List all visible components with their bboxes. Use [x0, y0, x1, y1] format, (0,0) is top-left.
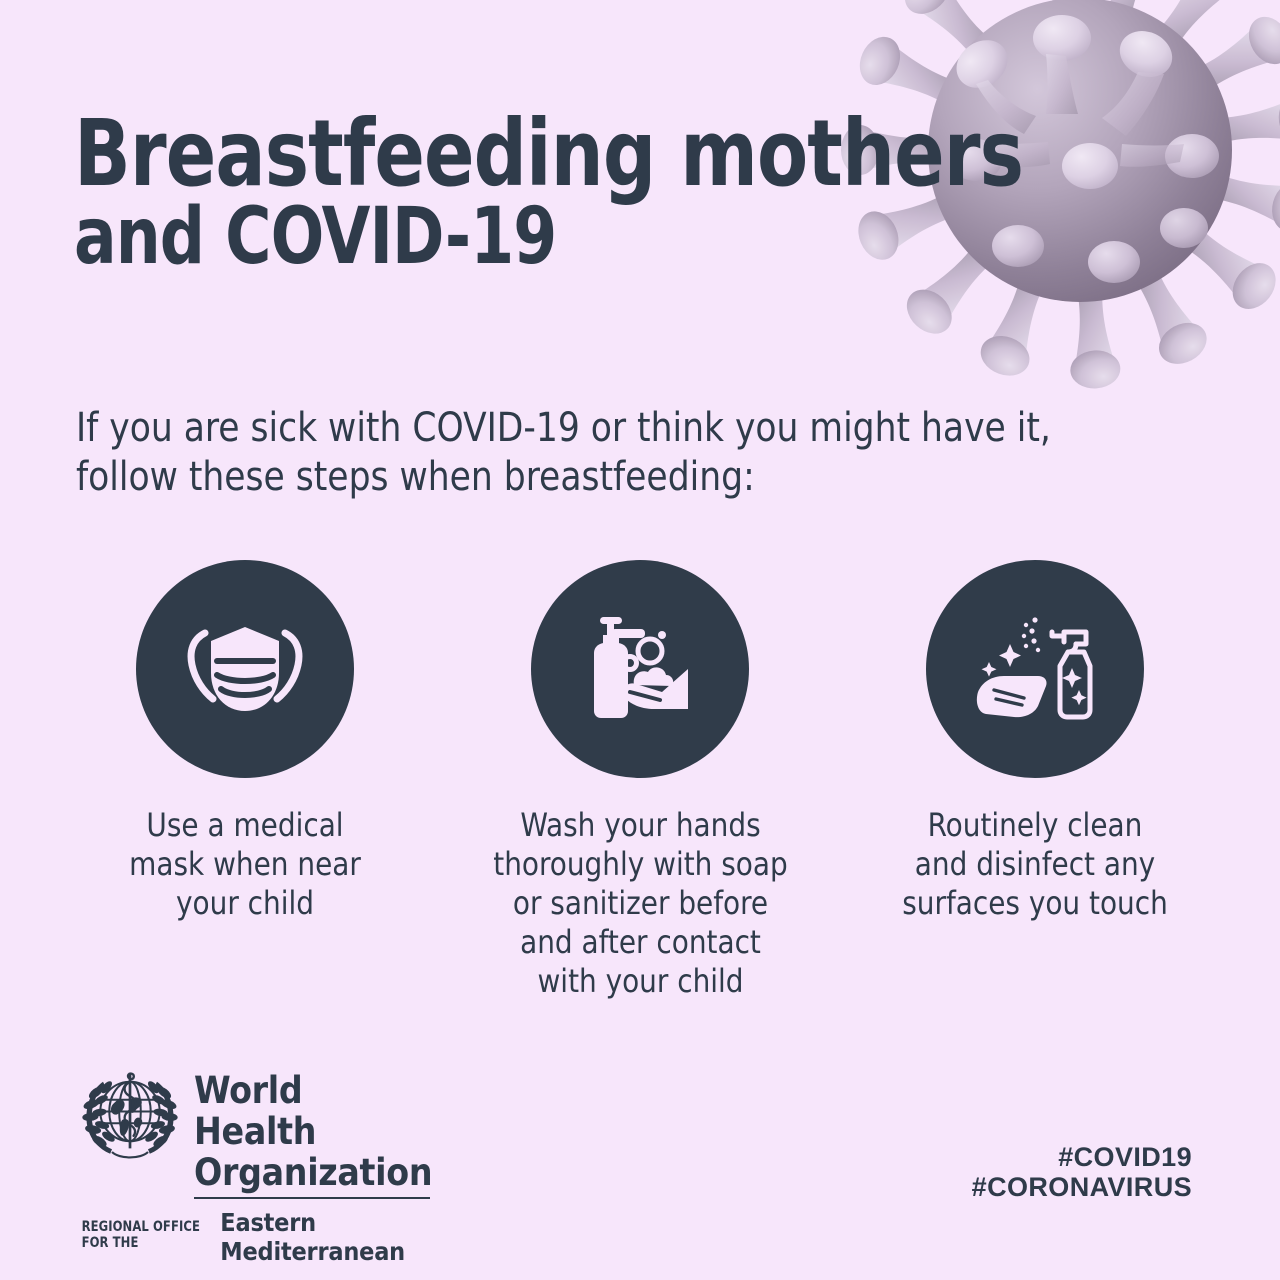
caption-line: and after contact [473, 923, 808, 962]
step-icon-circle [531, 560, 749, 778]
mask-body [211, 627, 279, 711]
step-item-disinfect: Routinely clean and disinfect any surfac… [850, 560, 1220, 923]
who-wordmark: World Health Organization [194, 1062, 432, 1193]
page-title: Breastfeeding mothers and COVID-19 [74, 106, 1054, 278]
intro-line-1: If you are sick with COVID-19 or think y… [76, 404, 1132, 453]
who-logo: World Health Organization REGIONAL OFFIC… [76, 1062, 426, 1266]
who-word-line-1: World Health [194, 1070, 432, 1152]
caption-line: your child [100, 884, 391, 923]
caption-line: with your child [473, 962, 808, 1001]
who-divider-rule [194, 1197, 430, 1199]
caption-line: Use a medical [100, 806, 391, 845]
caption-line: or sanitizer before [473, 884, 808, 923]
title-line-1: Breastfeeding mothers [74, 106, 956, 202]
step-icon-circle [136, 560, 354, 778]
caption-line: Wash your hands [473, 806, 808, 845]
hashtag-coronavirus: #CORONAVIRUS [972, 1172, 1192, 1202]
intro-text: If you are sick with COVID-19 or think y… [76, 404, 1176, 502]
step-item-mask: Use a medical mask when near your child [60, 560, 430, 923]
soap-dispenser-hand-wash-icon [578, 613, 702, 725]
title-line-2: and COVID-19 [74, 196, 956, 278]
spray-bottle-cleaning-icon [972, 614, 1098, 724]
hashtag-covid19: #COVID19 [972, 1142, 1192, 1172]
step-caption-handwash: Wash your hands thoroughly with soap or … [473, 806, 808, 1001]
caption-line: thoroughly with soap [473, 845, 808, 884]
step-caption-mask: Use a medical mask when near your child [100, 806, 391, 923]
hashtags: #COVID19 #CORONAVIRUS [972, 1142, 1192, 1202]
who-emblem-icon [76, 1062, 184, 1170]
step-caption-disinfect: Routinely clean and disinfect any surfac… [875, 806, 1195, 923]
steps-row: Use a medical mask when near your child [60, 560, 1220, 1001]
who-region-line: REGIONAL OFFICE FOR THE Eastern Mediterr… [76, 1208, 426, 1266]
poster-canvas: Breastfeeding mothers and COVID-19 If yo… [0, 0, 1280, 1280]
caption-line: Routinely clean [875, 806, 1195, 845]
step-icon-circle [926, 560, 1144, 778]
face-mask-icon [183, 617, 307, 721]
who-word-line-2: Organization [194, 1152, 432, 1193]
who-region-name: Eastern Mediterranean [220, 1208, 426, 1266]
caption-line: surfaces you touch [875, 884, 1195, 923]
step-item-handwash: Wash your hands thoroughly with soap or … [455, 560, 825, 1001]
caption-line: and disinfect any [875, 845, 1195, 884]
who-region-prefix: REGIONAL OFFICE FOR THE [82, 1219, 210, 1251]
intro-line-2: follow these steps when breastfeeding: [76, 453, 1132, 502]
caption-line: mask when near [100, 845, 391, 884]
